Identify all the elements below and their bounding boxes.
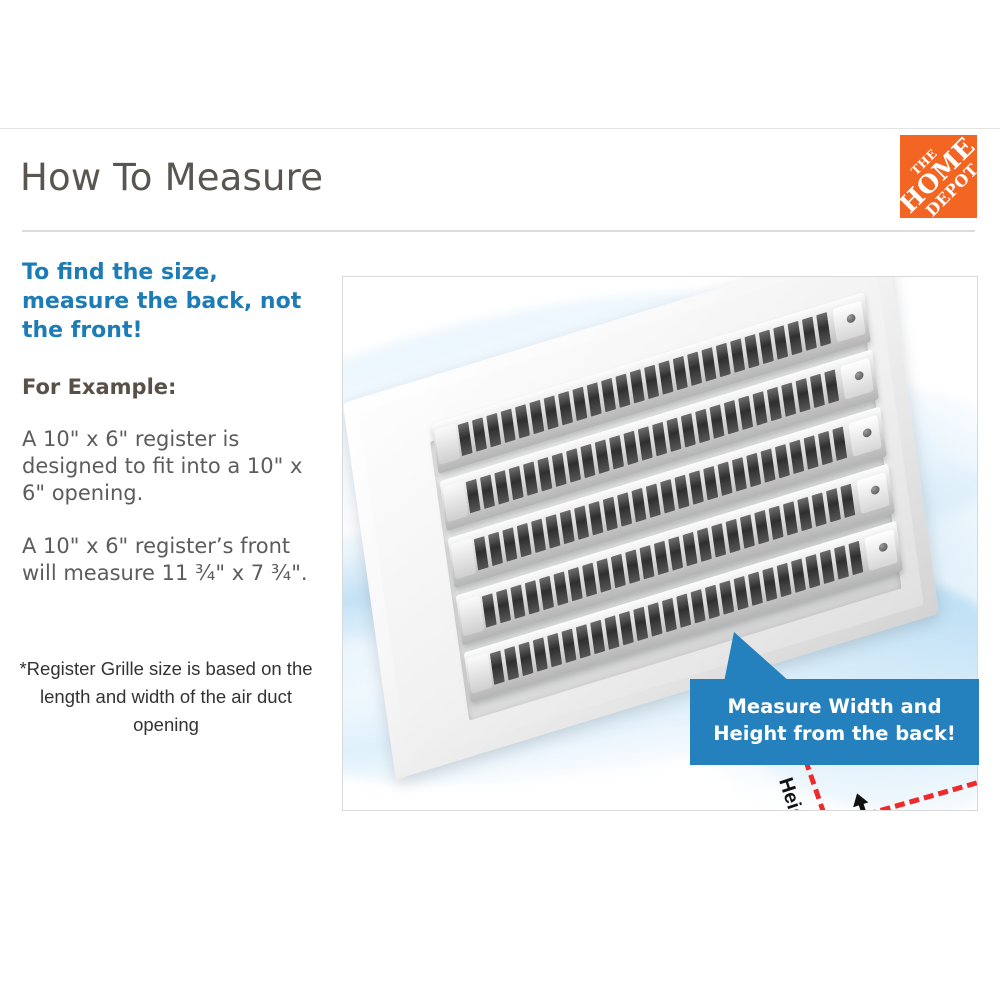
louver-slot: [472, 417, 487, 452]
louver-slot: [734, 576, 749, 611]
louver-slot: [515, 404, 530, 439]
measure-callout-line-2: Height from the back!: [713, 722, 956, 745]
louver-slot: [545, 514, 560, 549]
footnote-text: *Register Grille size is based on the le…: [6, 655, 326, 739]
louver-slot: [788, 321, 803, 356]
louver-slot: [531, 518, 546, 553]
louver-slot: [789, 440, 804, 475]
louver-slot: [587, 382, 602, 417]
louver-slot: [580, 444, 595, 479]
louver-slot: [824, 369, 839, 404]
louver-slot: [533, 637, 548, 672]
louver-slot: [576, 624, 591, 659]
louver-slot: [703, 466, 718, 501]
page-root: How To Measure THE HOME DEPOT To find th…: [0, 0, 1000, 1000]
louver-slot: [834, 545, 849, 580]
louver-slot: [673, 356, 688, 391]
example-paragraph-1: A 10" x 6" register is designed to fit i…: [22, 426, 327, 507]
louver-left-cap: [459, 595, 485, 636]
louver-slot: [812, 492, 827, 527]
louver-slot: [777, 563, 792, 598]
louver-slot: [509, 466, 524, 501]
louver-slot: [644, 365, 659, 400]
louver-slot: [687, 351, 702, 386]
louver-slot: [683, 532, 698, 567]
louver-slot: [529, 400, 544, 435]
louver-slot: [611, 554, 626, 589]
louver-slot: [630, 369, 645, 404]
louver-slot: [603, 497, 618, 532]
louver-slot: [662, 598, 677, 633]
louver-slot: [638, 426, 653, 461]
louver-slot: [544, 395, 559, 430]
louver-slot: [615, 373, 630, 408]
louver-slot: [718, 461, 733, 496]
louver-slot: [601, 378, 616, 413]
louver-slot: [804, 435, 819, 470]
louver-slot: [510, 584, 525, 619]
louver-slot: [640, 545, 655, 580]
louver-slot: [705, 585, 720, 620]
louver-slot: [502, 527, 517, 562]
louver-slot: [724, 400, 739, 435]
louver-slot: [566, 448, 581, 483]
louver-slot: [474, 536, 489, 571]
louver-slot: [701, 347, 716, 382]
louver-slot: [609, 435, 624, 470]
title-divider: [22, 230, 975, 232]
louver-slot: [486, 413, 501, 448]
louver-slot: [791, 558, 806, 593]
louver-slot: [517, 523, 532, 558]
louver-slot: [848, 541, 863, 576]
louver-slot: [719, 580, 734, 615]
louver-slot: [805, 554, 820, 589]
louver-slot: [711, 523, 726, 558]
louver-slot: [740, 514, 755, 549]
louver-slot: [826, 488, 841, 523]
louver-slot: [676, 593, 691, 628]
louver-slot: [525, 580, 540, 615]
louver-slot: [761, 448, 776, 483]
measure-callout-line-1: Measure Width and: [727, 695, 941, 718]
louver-left-cap: [434, 424, 460, 465]
callout-pointer-tail: [724, 632, 790, 682]
louver-slot: [562, 628, 577, 663]
louver-slot: [595, 439, 610, 474]
louver-slot: [818, 431, 833, 466]
louver-slot: [796, 378, 811, 413]
louver-slot: [553, 571, 568, 606]
louver-slot: [748, 571, 763, 606]
louver-slot: [480, 474, 495, 509]
louver-slot: [574, 505, 589, 540]
louver-slot: [840, 484, 855, 519]
top-divider: [0, 128, 1000, 129]
louver-slot: [547, 633, 562, 668]
measure-callout-text: Measure Width and Height from the back!: [690, 693, 979, 747]
louver-slot: [666, 417, 681, 452]
louver-slot: [695, 409, 710, 444]
louver-slot: [816, 312, 831, 347]
example-paragraph-2: A 10" x 6" register’s front will measure…: [22, 533, 327, 587]
louver-slot: [518, 642, 533, 677]
louver-slot: [652, 422, 667, 457]
home-depot-logo-inner: THE HOME DEPOT: [900, 135, 977, 218]
louver-slot: [759, 330, 774, 365]
page-title: How To Measure: [20, 156, 323, 200]
louver-slot: [501, 408, 516, 443]
louver-slot: [681, 413, 696, 448]
for-example-label: For Example:: [22, 374, 176, 400]
louver-slot: [832, 426, 847, 461]
louver-slot: [560, 510, 575, 545]
louver-slot: [675, 475, 690, 510]
louver-slot: [504, 646, 519, 681]
louver-slot: [654, 541, 669, 576]
louver-slot: [738, 396, 753, 431]
louver-slot: [558, 391, 573, 426]
louver-slot: [588, 501, 603, 536]
louver-slot: [646, 483, 661, 518]
louver-slot: [597, 558, 612, 593]
louver-slot: [767, 387, 782, 422]
louver-slot: [552, 453, 567, 488]
louver-slot: [458, 422, 473, 457]
louver-slot: [820, 550, 835, 585]
lead-statement: To find the size, measure the back, not …: [22, 258, 332, 345]
louver-slot: [523, 461, 538, 496]
home-depot-logo: THE HOME DEPOT: [900, 135, 977, 218]
louver-left-cap: [442, 481, 468, 522]
louver-slot: [488, 532, 503, 567]
louver-slot: [716, 343, 731, 378]
louver-slot: [769, 506, 784, 541]
louver-slot: [773, 325, 788, 360]
louver-slot: [537, 457, 552, 492]
louver-slot: [631, 488, 646, 523]
louver-slot: [762, 567, 777, 602]
louver-left-cap: [467, 652, 493, 693]
louver-slot: [605, 615, 620, 650]
louver-left-cap: [450, 538, 476, 579]
louver-slot: [660, 479, 675, 514]
louver-slot: [810, 374, 825, 409]
louver-slot: [710, 404, 725, 439]
louver-slot: [496, 589, 511, 624]
louver-slot: [730, 338, 745, 373]
louver-slot: [658, 360, 673, 395]
louver-slot: [668, 536, 683, 571]
louver-slot: [781, 382, 796, 417]
louver-slot: [568, 567, 583, 602]
louver-slot: [745, 334, 760, 369]
louver-slot: [539, 576, 554, 611]
louver-slot: [797, 497, 812, 532]
measure-callout-box: Measure Width and Height from the back!: [690, 679, 979, 765]
louver-slot: [775, 444, 790, 479]
louver-slot: [753, 391, 768, 426]
louver-slot: [625, 549, 640, 584]
louver-slot: [691, 589, 706, 624]
louver-slot: [689, 470, 704, 505]
louver-slot: [619, 611, 634, 646]
louver-slot: [466, 479, 481, 514]
louver-slot: [494, 470, 509, 505]
louver-slot: [617, 492, 632, 527]
louver-slot: [648, 602, 663, 637]
louver-slot: [572, 387, 587, 422]
louver-slot: [783, 501, 798, 536]
louver-slot: [754, 510, 769, 545]
louver-slot: [732, 457, 747, 492]
louver-slot: [582, 563, 597, 598]
louver-slot: [490, 650, 505, 685]
louver-slot: [726, 519, 741, 554]
louver-slot: [633, 607, 648, 642]
louver-slot: [482, 593, 497, 628]
louver-slot: [623, 431, 638, 466]
louver-slot: [802, 316, 817, 351]
louver-slot: [590, 620, 605, 655]
louver-slot: [746, 453, 761, 488]
louver-slot: [697, 527, 712, 562]
